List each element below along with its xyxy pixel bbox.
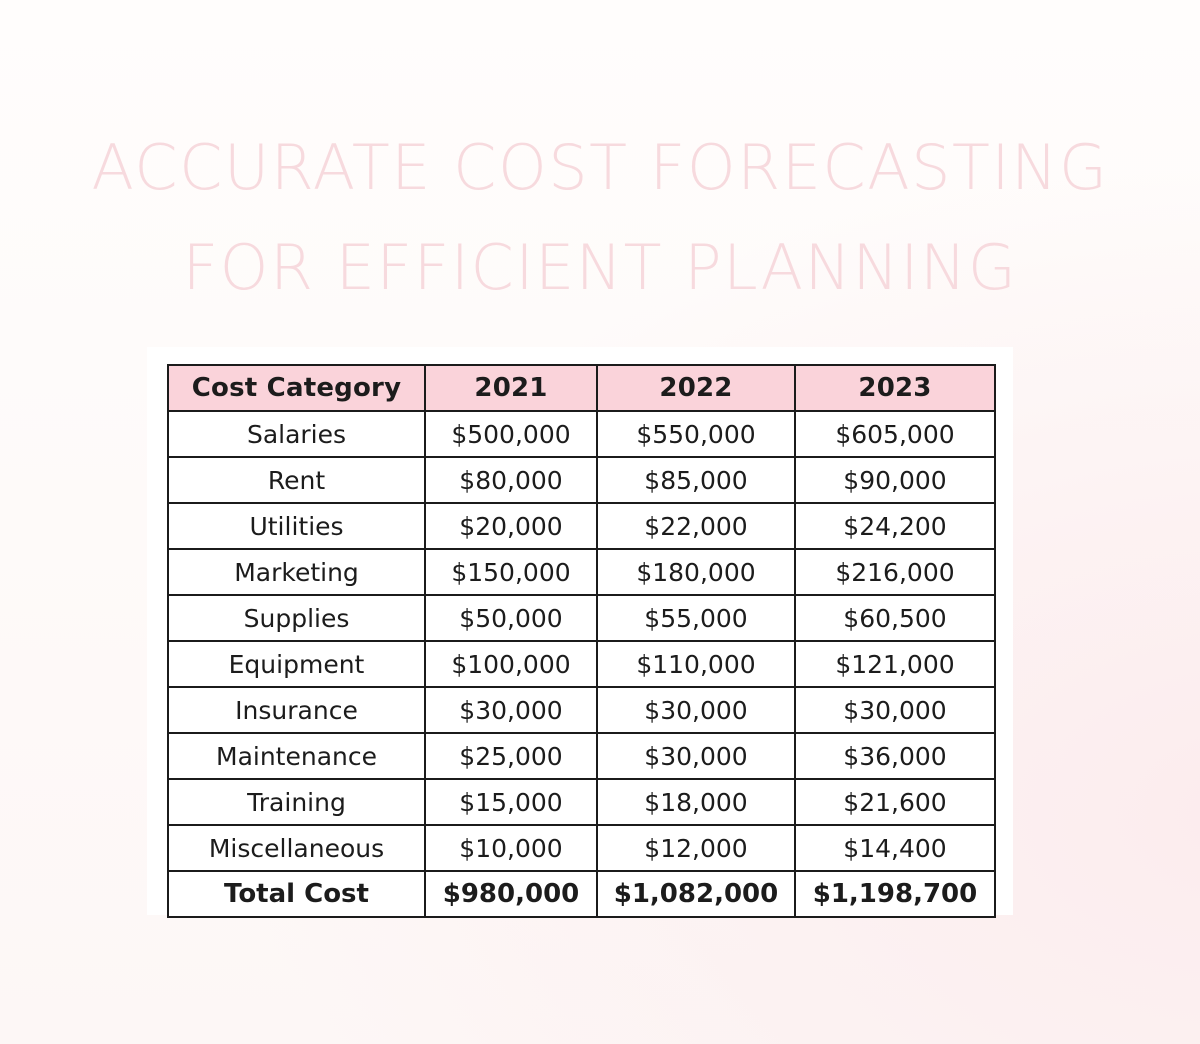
cell-2021: $20,000 xyxy=(425,503,597,549)
cell-2023: $216,000 xyxy=(795,549,995,595)
column-header-cost-category: Cost Category xyxy=(168,365,425,411)
cell-category: Miscellaneous xyxy=(168,825,425,871)
table-total-row: Total Cost $980,000 $1,082,000 $1,198,70… xyxy=(168,871,995,917)
column-header-2021: 2021 xyxy=(425,365,597,411)
cell-total-label: Total Cost xyxy=(168,871,425,917)
cell-2021: $100,000 xyxy=(425,641,597,687)
cell-2022: $550,000 xyxy=(597,411,795,457)
cell-total-2023: $1,198,700 xyxy=(795,871,995,917)
table-row: Utilities $20,000 $22,000 $24,200 xyxy=(168,503,995,549)
cell-2022: $110,000 xyxy=(597,641,795,687)
cell-2022: $18,000 xyxy=(597,779,795,825)
table-row: Insurance $30,000 $30,000 $30,000 xyxy=(168,687,995,733)
cell-2021: $25,000 xyxy=(425,733,597,779)
column-header-2023: 2023 xyxy=(795,365,995,411)
table-body: Salaries $500,000 $550,000 $605,000 Rent… xyxy=(168,411,995,917)
page-title-line-2: FOR EFFICIENT PLANNING xyxy=(0,218,1200,318)
cell-2022: $85,000 xyxy=(597,457,795,503)
cell-2022: $55,000 xyxy=(597,595,795,641)
cell-total-2021: $980,000 xyxy=(425,871,597,917)
cost-forecast-table: Cost Category 2021 2022 2023 Salaries $5… xyxy=(167,364,996,918)
cell-category: Marketing xyxy=(168,549,425,595)
cell-2021: $15,000 xyxy=(425,779,597,825)
cell-2023: $14,400 xyxy=(795,825,995,871)
table-row: Miscellaneous $10,000 $12,000 $14,400 xyxy=(168,825,995,871)
cell-2021: $50,000 xyxy=(425,595,597,641)
table-header-row: Cost Category 2021 2022 2023 xyxy=(168,365,995,411)
cell-2023: $60,500 xyxy=(795,595,995,641)
cell-category: Training xyxy=(168,779,425,825)
cell-2023: $30,000 xyxy=(795,687,995,733)
cell-2022: $12,000 xyxy=(597,825,795,871)
cell-2023: $21,600 xyxy=(795,779,995,825)
cell-category: Salaries xyxy=(168,411,425,457)
cell-2023: $90,000 xyxy=(795,457,995,503)
table-row: Training $15,000 $18,000 $21,600 xyxy=(168,779,995,825)
cell-total-2022: $1,082,000 xyxy=(597,871,795,917)
cell-category: Maintenance xyxy=(168,733,425,779)
page-title: ACCURATE COST FORECASTING FOR EFFICIENT … xyxy=(0,118,1200,318)
cell-category: Supplies xyxy=(168,595,425,641)
table-row: Equipment $100,000 $110,000 $121,000 xyxy=(168,641,995,687)
table-row: Salaries $500,000 $550,000 $605,000 xyxy=(168,411,995,457)
cell-2022: $180,000 xyxy=(597,549,795,595)
table-header: Cost Category 2021 2022 2023 xyxy=(168,365,995,411)
cell-category: Utilities xyxy=(168,503,425,549)
table-row: Marketing $150,000 $180,000 $216,000 xyxy=(168,549,995,595)
cell-2022: $30,000 xyxy=(597,733,795,779)
cell-2021: $10,000 xyxy=(425,825,597,871)
cell-2021: $500,000 xyxy=(425,411,597,457)
cell-category: Equipment xyxy=(168,641,425,687)
cell-2021: $150,000 xyxy=(425,549,597,595)
cell-category: Insurance xyxy=(168,687,425,733)
cell-2022: $30,000 xyxy=(597,687,795,733)
cell-2023: $605,000 xyxy=(795,411,995,457)
cell-2021: $80,000 xyxy=(425,457,597,503)
cell-2021: $30,000 xyxy=(425,687,597,733)
cell-2022: $22,000 xyxy=(597,503,795,549)
table-row: Supplies $50,000 $55,000 $60,500 xyxy=(168,595,995,641)
cell-2023: $24,200 xyxy=(795,503,995,549)
cell-2023: $36,000 xyxy=(795,733,995,779)
cell-category: Rent xyxy=(168,457,425,503)
table-row: Rent $80,000 $85,000 $90,000 xyxy=(168,457,995,503)
cell-2023: $121,000 xyxy=(795,641,995,687)
table-row: Maintenance $25,000 $30,000 $36,000 xyxy=(168,733,995,779)
page-canvas: ACCURATE COST FORECASTING FOR EFFICIENT … xyxy=(0,0,1200,1044)
page-title-line-1: ACCURATE COST FORECASTING xyxy=(0,118,1200,218)
column-header-2022: 2022 xyxy=(597,365,795,411)
